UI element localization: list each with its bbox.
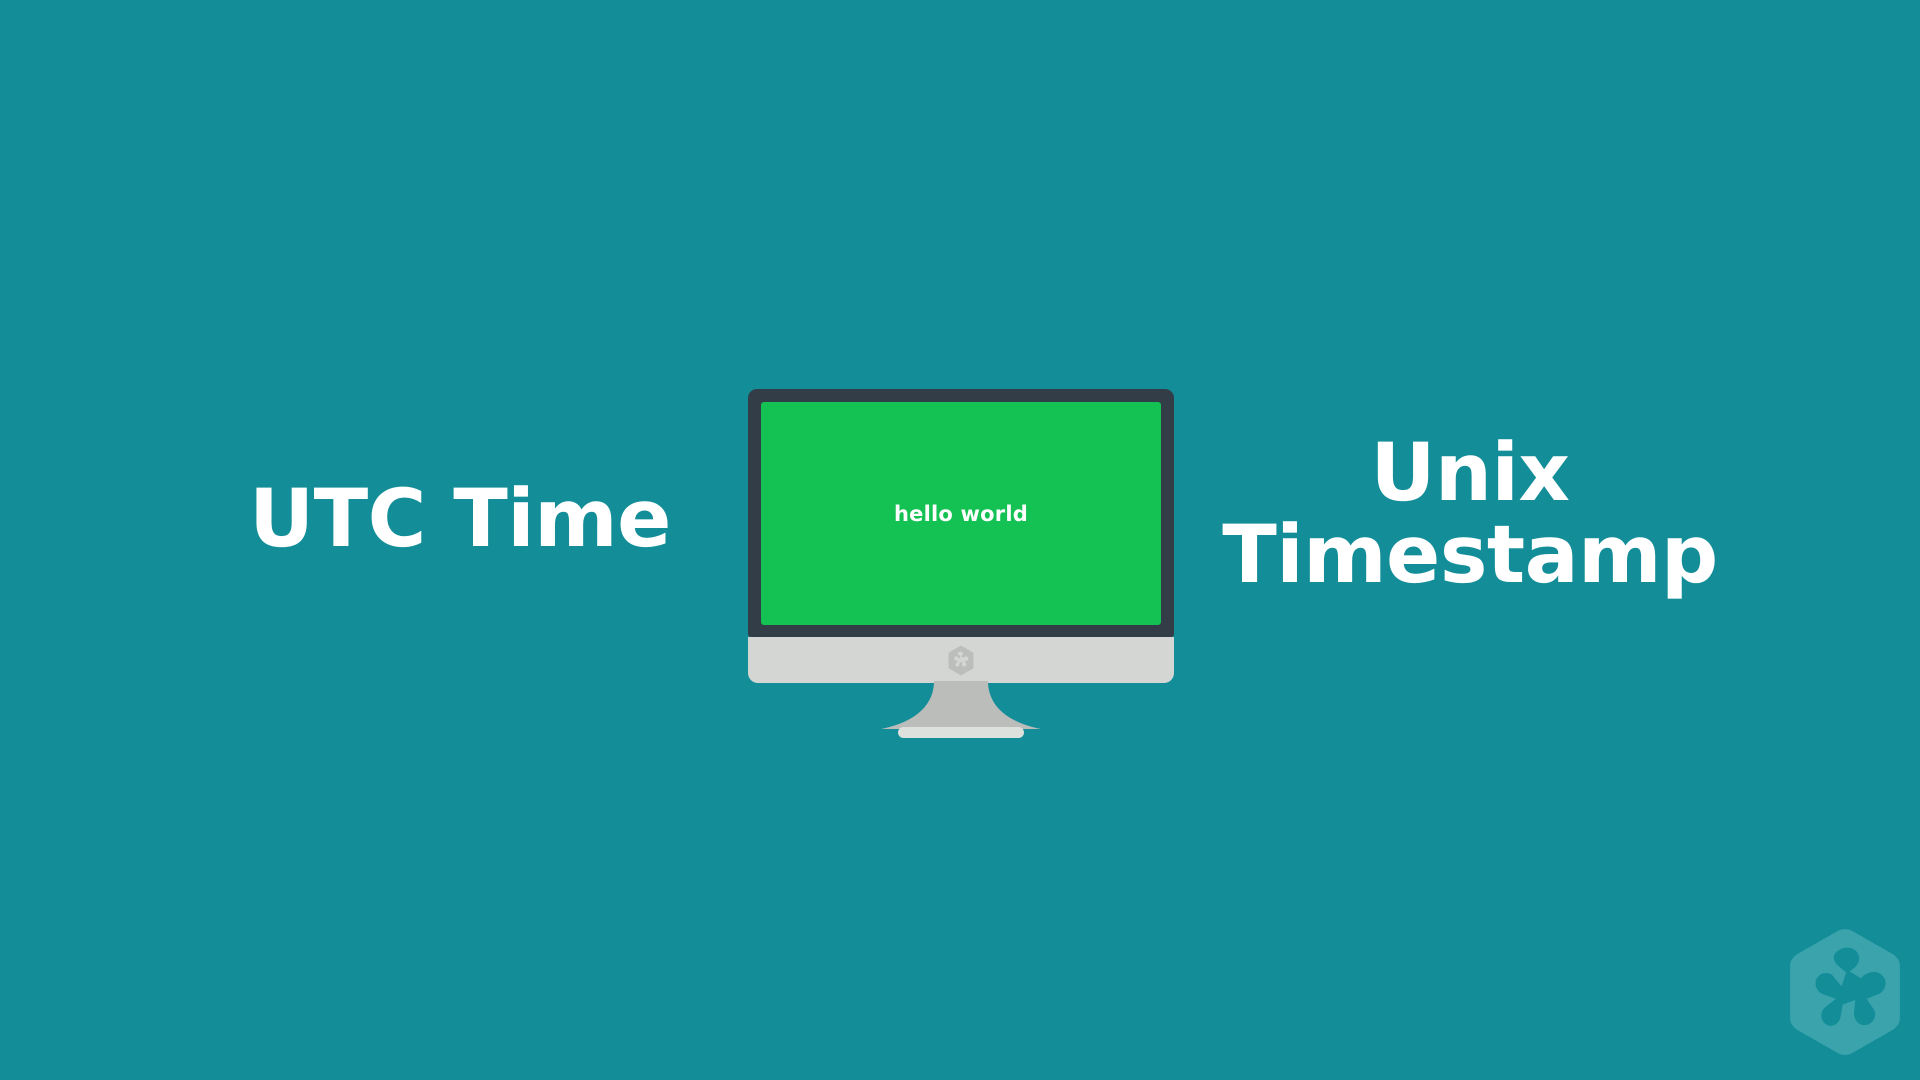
monitor-chin [748,637,1174,683]
monitor-stand [871,681,1051,731]
monitor-illustration: hello world [748,389,1174,739]
slide-canvas: UTC Time Unix Timestamp hello world [0,0,1920,1080]
exercism-logo-watermark [1786,928,1904,1056]
label-unix-timestamp: Unix Timestamp [1190,432,1750,595]
screen-hello-world-text: hello world [894,502,1028,526]
monitor-base [898,727,1024,738]
label-utc-time: UTC Time [180,478,740,560]
monitor-bezel: hello world [748,389,1174,637]
monitor-screen: hello world [761,402,1161,625]
exercism-hexagon-icon [947,645,975,676]
